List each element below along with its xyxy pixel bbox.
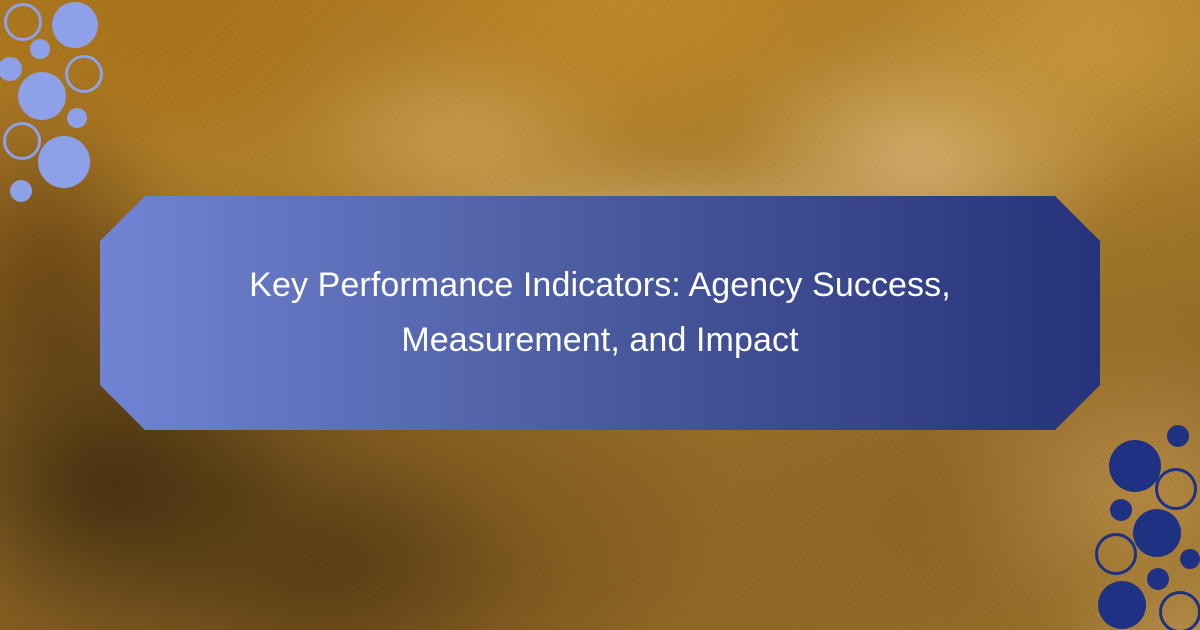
page-title: Key Performance Indicators: Agency Succe…: [200, 258, 1000, 368]
decorative-circle: [1159, 591, 1200, 630]
decorative-circle: [1133, 509, 1181, 557]
decorative-circle: [38, 136, 90, 188]
decorative-circle: [1110, 499, 1132, 521]
decorative-circle: [1109, 440, 1161, 492]
decorative-circles-bottom-right: [1080, 420, 1200, 630]
decorative-circle: [1095, 533, 1137, 575]
decorative-circle: [67, 108, 87, 128]
decorative-circle: [1180, 549, 1200, 569]
decorative-circle: [52, 2, 98, 48]
decorative-circle: [1155, 468, 1197, 510]
decorative-circle: [4, 3, 42, 41]
decorative-circle: [10, 180, 32, 202]
decorative-circle: [65, 55, 103, 93]
title-banner: Key Performance Indicators: Agency Succe…: [100, 196, 1100, 430]
decorative-circle: [3, 122, 41, 160]
banner-stage: Key Performance Indicators: Agency Succe…: [0, 0, 1200, 630]
decorative-circle: [30, 39, 50, 59]
decorative-circle: [1167, 425, 1189, 447]
decorative-circle: [1147, 568, 1169, 590]
decorative-circle: [1098, 581, 1146, 629]
decorative-circles-top-left: [0, 0, 140, 210]
decorative-circle: [0, 57, 22, 81]
decorative-circle: [18, 72, 66, 120]
